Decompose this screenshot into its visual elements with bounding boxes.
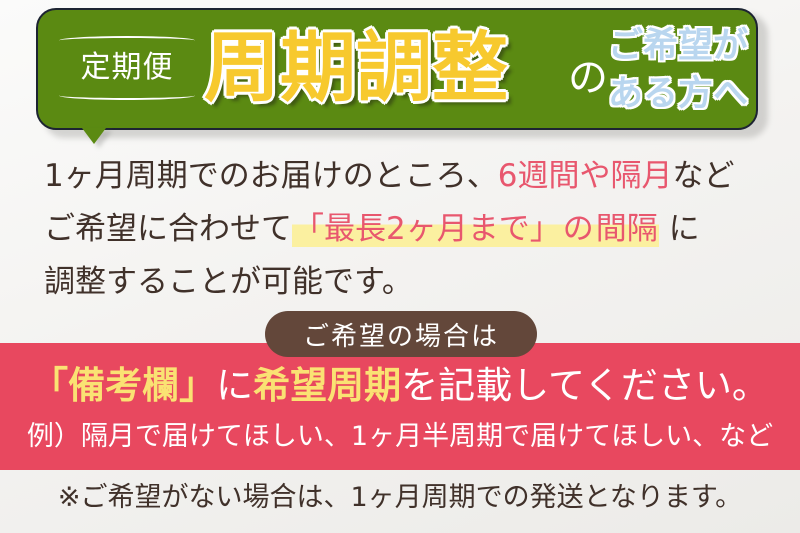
swash-top-line [59,36,195,45]
body-line-1-accent-1: 6週間 [498,158,580,194]
instruction-accent-2: 希望周期 [253,364,401,407]
subscription-badge-label: 定期便 [52,48,202,88]
header-bubble: 定期便 周期調整 の ご希望が ある方へ [0,0,800,150]
instruction-example-text: 例）隔月で届けてほしい、1ヶ月半周期で届けてほしい、など [0,418,800,456]
instruction-plain-1: に [216,364,253,407]
header-title-particle: の [568,56,608,100]
header-subtitle: ご希望が ある方へ [608,22,756,118]
body-line-2-highlight-plain: の [562,211,595,247]
header-title: 周期調整 [204,20,508,116]
body-line-2-highlight-accent: 「最長2ヶ月まで」 [292,211,562,247]
body-line-2-part-1: ご希望に合わせて [44,211,292,247]
instruction-band: 「備考欄」に希望周期を記載してください。 例）隔月で届けてほしい、1ヶ月半周期で… [0,343,800,470]
body-line-1-part-2: や [579,158,610,194]
header-subtitle-line-2: ある方へ [608,70,756,118]
subscription-badge: 定期便 [52,36,202,100]
body-line-1: 1ヶ月周期でのお届けのところ、6週間や隔月など [44,150,764,203]
body-line-1-accent-2: 隔月 [610,158,672,194]
body-paragraph: 1ヶ月周期でのお届けのところ、6週間や隔月など ご希望に合わせて「最長2ヶ月まで… [44,150,764,309]
promo-banner: 定期便 周期調整 の ご希望が ある方へ 1ヶ月周期でのお届けのところ、6週間や… [0,0,800,533]
header-subtitle-line-1: ご希望が [608,22,756,70]
body-line-1-part-3: など [672,158,734,194]
body-line-2-part-3: に [659,211,700,247]
instruction-accent-1: 「備考欄」 [31,364,216,407]
swash-bottom-line [59,91,195,100]
instruction-plain-2: を記載してください。 [401,364,769,407]
footer-note: ※ご希望がない場合は、1ヶ月周期での発送となります。 [0,478,800,518]
instruction-main-text: 「備考欄」に希望周期を記載してください。 [0,361,800,411]
condition-pill: ご希望の場合は [265,311,537,357]
body-line-2-highlight-accent-2: 間隔 [595,211,659,247]
header-tail [82,128,106,144]
body-line-3: 調整することが可能です。 [44,256,764,309]
condition-pill-label: ご希望の場合は [303,316,499,353]
body-line-2: ご希望に合わせて「最長2ヶ月まで」の間隔 に [44,203,764,256]
body-line-1-part-1: 1ヶ月周期でのお届けのところ、 [44,158,498,194]
